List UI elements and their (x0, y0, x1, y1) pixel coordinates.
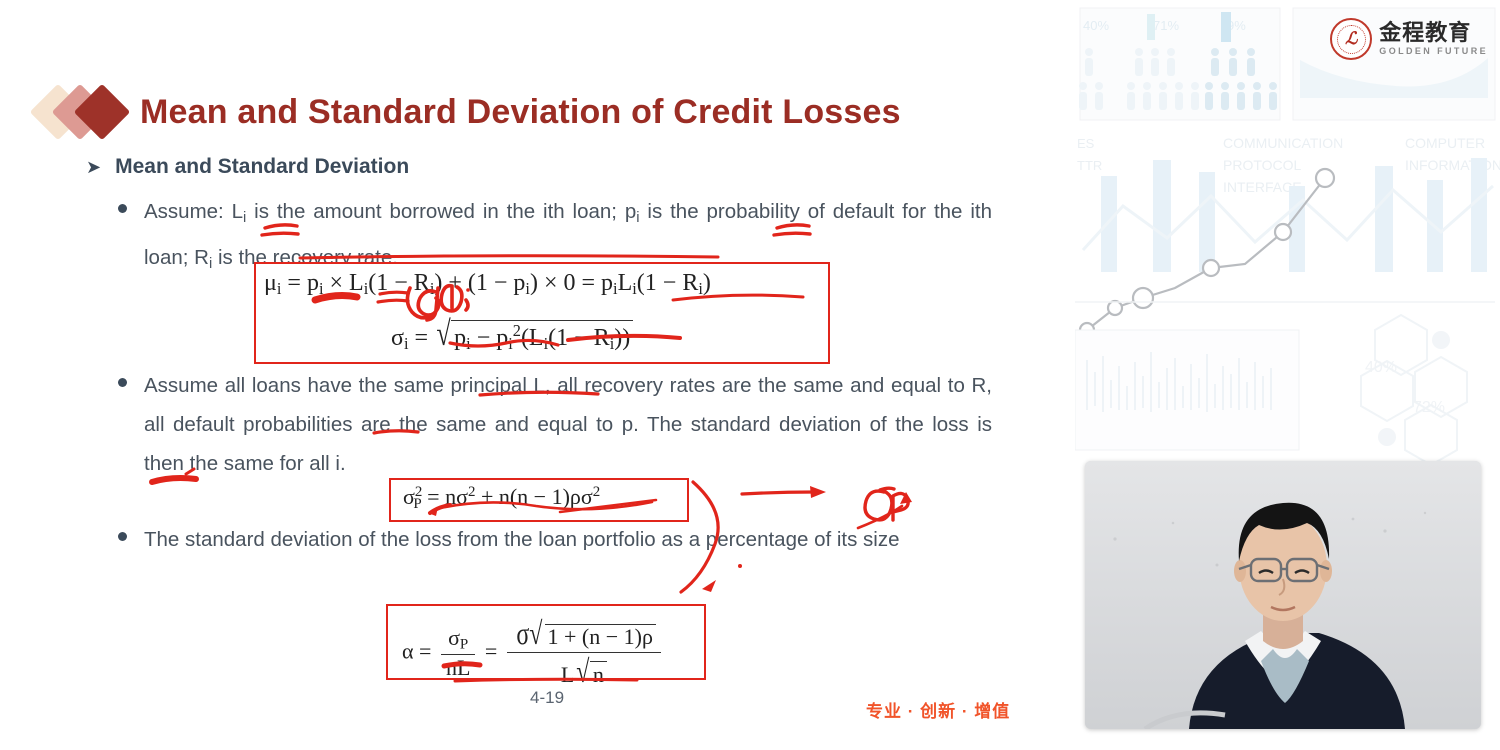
list-item: The standard deviation of the loss from … (118, 520, 1008, 559)
formula-portfolio-variance: σ2P = nσ2 + n(n − 1)ρσ2 (403, 484, 600, 513)
svg-text:ES: ES (1077, 136, 1095, 151)
formula-box-portfolio-variance: σ2P = nσ2 + n(n − 1)ρσ2 (389, 478, 689, 522)
instructor-video-feed[interactable] (1085, 461, 1481, 729)
slide-canvas: Mean and Standard Deviation of Credit Lo… (0, 0, 1075, 750)
bullet-dot-icon (118, 204, 127, 213)
footer-slogan: 专业 · 创新 · 增值 (866, 697, 1010, 722)
svg-text:40%: 40% (1083, 18, 1109, 33)
brand-name-block: 金程教育 GOLDEN FUTURE (1379, 22, 1488, 56)
bullet-dot-icon (118, 532, 127, 541)
hex-label-72: 72% (1413, 399, 1445, 416)
hex-label-40: 40% (1365, 359, 1397, 376)
svg-text:71%: 71% (1153, 18, 1179, 33)
svg-text:COMPUTER: COMPUTER (1405, 135, 1485, 151)
section-heading-label: Mean and Standard Deviation (115, 155, 409, 179)
list-item-label: Assume all loans have the same principal… (144, 366, 992, 483)
seal-icon: ℒ (1330, 18, 1372, 60)
list-item: Assume all loans have the same principal… (118, 366, 1008, 483)
page-number: 4-19 (530, 688, 564, 708)
svg-text:COMMUNICATION: COMMUNICATION (1223, 135, 1343, 151)
page-title: Mean and Standard Deviation of Credit Lo… (140, 93, 901, 132)
formula-box-alpha: α = σPnL = σ√1 + (n − 1)ρ L√n (386, 604, 706, 680)
decorative-background-graphic: 40% 71% 9% (1075, 0, 1500, 470)
arrow-bullet-icon: ➤ (86, 157, 101, 178)
formula-box-mean-sigma: μi = pi × Li(1 − Ri) + (1 − pi) × 0 = pi… (254, 262, 830, 364)
list-item-label: The standard deviation of the loss from … (144, 520, 992, 559)
formula-mean: μi = pi × Li(1 − Ri) + (1 − pi) × 0 = pi… (264, 270, 711, 299)
svg-text:PROTOCOL: PROTOCOL (1223, 157, 1302, 173)
seal-monogram: ℒ (1337, 25, 1366, 54)
bullet-dot-icon (118, 378, 127, 387)
brand-name-cn: 金程教育 (1379, 22, 1488, 44)
section-heading: ➤ Mean and Standard Deviation (86, 155, 409, 179)
diamond-decoration-icon (38, 88, 130, 136)
slide-title-row: Mean and Standard Deviation of Credit Lo… (38, 88, 901, 136)
formula-alpha: α = σPnL = σ√1 + (n − 1)ρ L√n (402, 616, 665, 691)
brand-logo: ℒ 金程教育 GOLDEN FUTURE (1330, 18, 1488, 60)
svg-text:TTR: TTR (1077, 158, 1102, 173)
formula-sigma-i: σi = √pi − pi2(Li(1 − Ri)) (391, 314, 633, 354)
brand-name-en: GOLDEN FUTURE (1379, 47, 1488, 56)
video-frame (1085, 461, 1481, 729)
